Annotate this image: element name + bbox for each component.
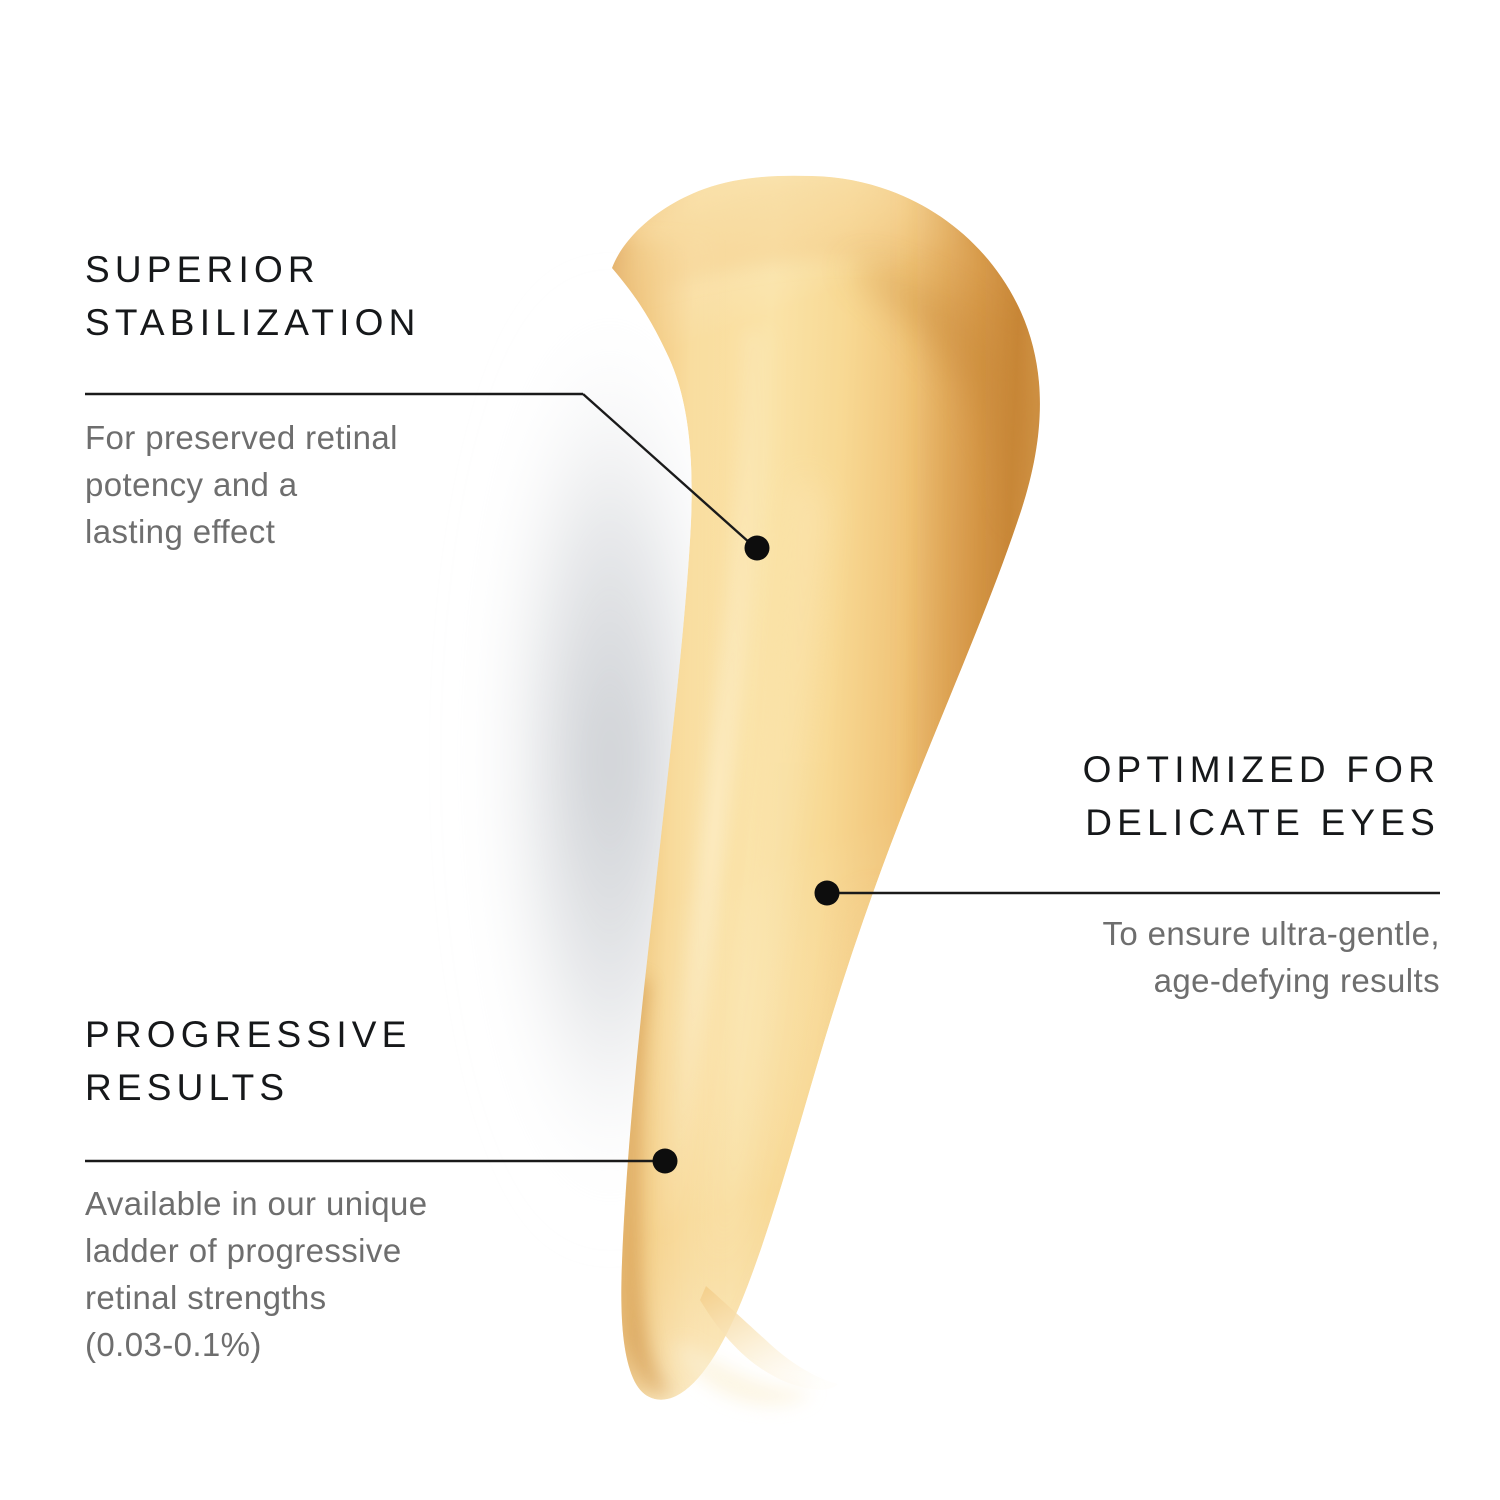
connector-dot bbox=[745, 536, 770, 561]
callout-superior-stabilization: SUPERIOR STABILIZATION For preserved ret… bbox=[85, 243, 645, 555]
callout-body: To ensure ultra-gentle, age-defying resu… bbox=[880, 910, 1440, 1004]
callout-heading: PROGRESSIVE RESULTS bbox=[85, 1008, 645, 1114]
callout-heading: SUPERIOR STABILIZATION bbox=[85, 243, 645, 349]
callout-body: For preserved retinal potency and a last… bbox=[85, 414, 645, 555]
callout-body: Available in our unique ladder of progre… bbox=[85, 1180, 645, 1368]
callout-optimized-delicate-eyes: OPTIMIZED FOR DELICATE EYES To ensure ul… bbox=[880, 743, 1440, 1004]
callout-progressive-results: PROGRESSIVE RESULTS Available in our uni… bbox=[85, 1008, 645, 1368]
infographic-canvas: SUPERIOR STABILIZATION For preserved ret… bbox=[0, 0, 1500, 1500]
connector-dot bbox=[815, 881, 840, 906]
callout-heading: OPTIMIZED FOR DELICATE EYES bbox=[880, 743, 1440, 849]
connector-dot bbox=[653, 1149, 678, 1174]
